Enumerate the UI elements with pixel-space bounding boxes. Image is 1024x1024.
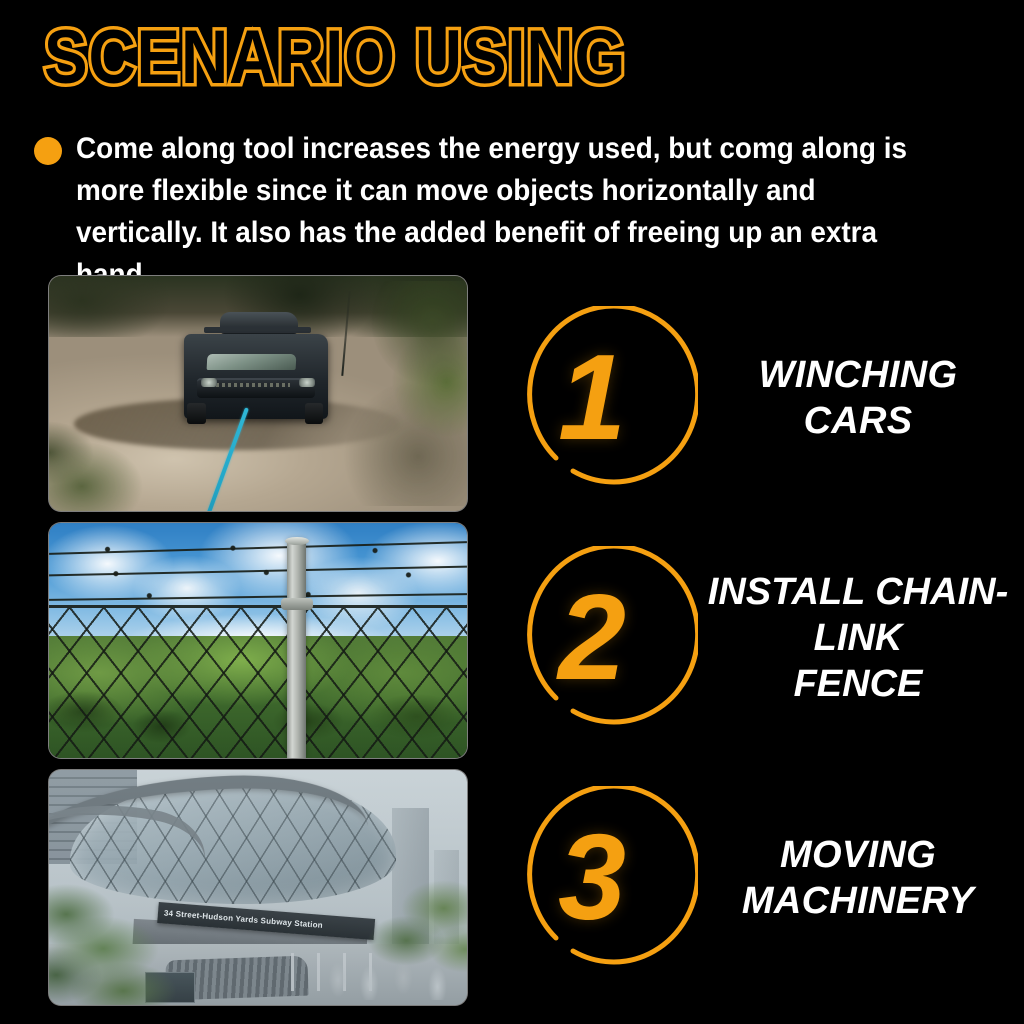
front-tyre-left [187, 403, 206, 423]
step-badge-2: 2 [520, 538, 698, 738]
windshield [207, 354, 297, 370]
vehicle-body [184, 334, 327, 419]
fence-post-collar [281, 598, 314, 610]
page-title: SCENARIO USING [44, 16, 626, 100]
step-item-1: 1 WINCHING CARS [520, 278, 1024, 518]
step-badge-3: 3 [520, 778, 698, 978]
roof-rack [204, 327, 312, 332]
step-label-2: INSTALL CHAIN-LINK FENCE [698, 569, 1024, 707]
step-item-3: 3 MOVING MACHINERY [520, 758, 1024, 998]
step-label-1-line1: WINCHING [698, 352, 1018, 398]
steps-list: 1 WINCHING CARS [520, 278, 1024, 1018]
intro-text: Come along tool increases the energy use… [76, 128, 924, 296]
step-number-3: 3 [558, 816, 626, 938]
fence-post [287, 539, 306, 758]
headlight-left [201, 378, 217, 386]
step-badge-1: 1 [520, 298, 698, 498]
step-label-2-line1: INSTALL CHAIN-LINK [698, 569, 1018, 661]
step-label-1: WINCHING CARS [698, 352, 1024, 444]
atmospheric-haze [49, 770, 467, 1005]
chain-link-fence-photo: Chain-link fence topped with barbed wire… [48, 522, 468, 759]
step-label-1-line2: CARS [698, 398, 1018, 444]
step-label-3-line1: MOVING [698, 832, 1018, 878]
offroad-vehicle [174, 304, 337, 440]
chain-link-mesh [49, 608, 467, 758]
right-brush [333, 281, 467, 507]
step-label-2-line2: FENCE [698, 661, 1018, 707]
subway-station-photo: 34 Street-Hudson Yards Subway Station Gl… [48, 769, 468, 1006]
winching-car-photo: Dark 4x4 off-road vehicle with roof box … [48, 275, 468, 512]
photo-column: Dark 4x4 off-road vehicle with roof box … [48, 275, 468, 1016]
barbs [49, 542, 467, 603]
step-number-2: 2 [558, 576, 626, 698]
bullet-dot-icon [34, 137, 62, 165]
front-tyre-right [305, 403, 324, 423]
intro-block: Come along tool increases the energy use… [34, 128, 994, 296]
step-number-1: 1 [558, 336, 626, 458]
grille [216, 383, 291, 386]
infographic-poster: SCENARIO USING Come along tool increases… [0, 0, 1024, 1024]
headlight-right [299, 378, 315, 386]
step-label-3-line2: MACHINERY [698, 878, 1018, 924]
step-label-3: MOVING MACHINERY [698, 832, 1024, 924]
step-item-2: 2 INSTALL CHAIN-LINK FENCE [520, 518, 1024, 758]
